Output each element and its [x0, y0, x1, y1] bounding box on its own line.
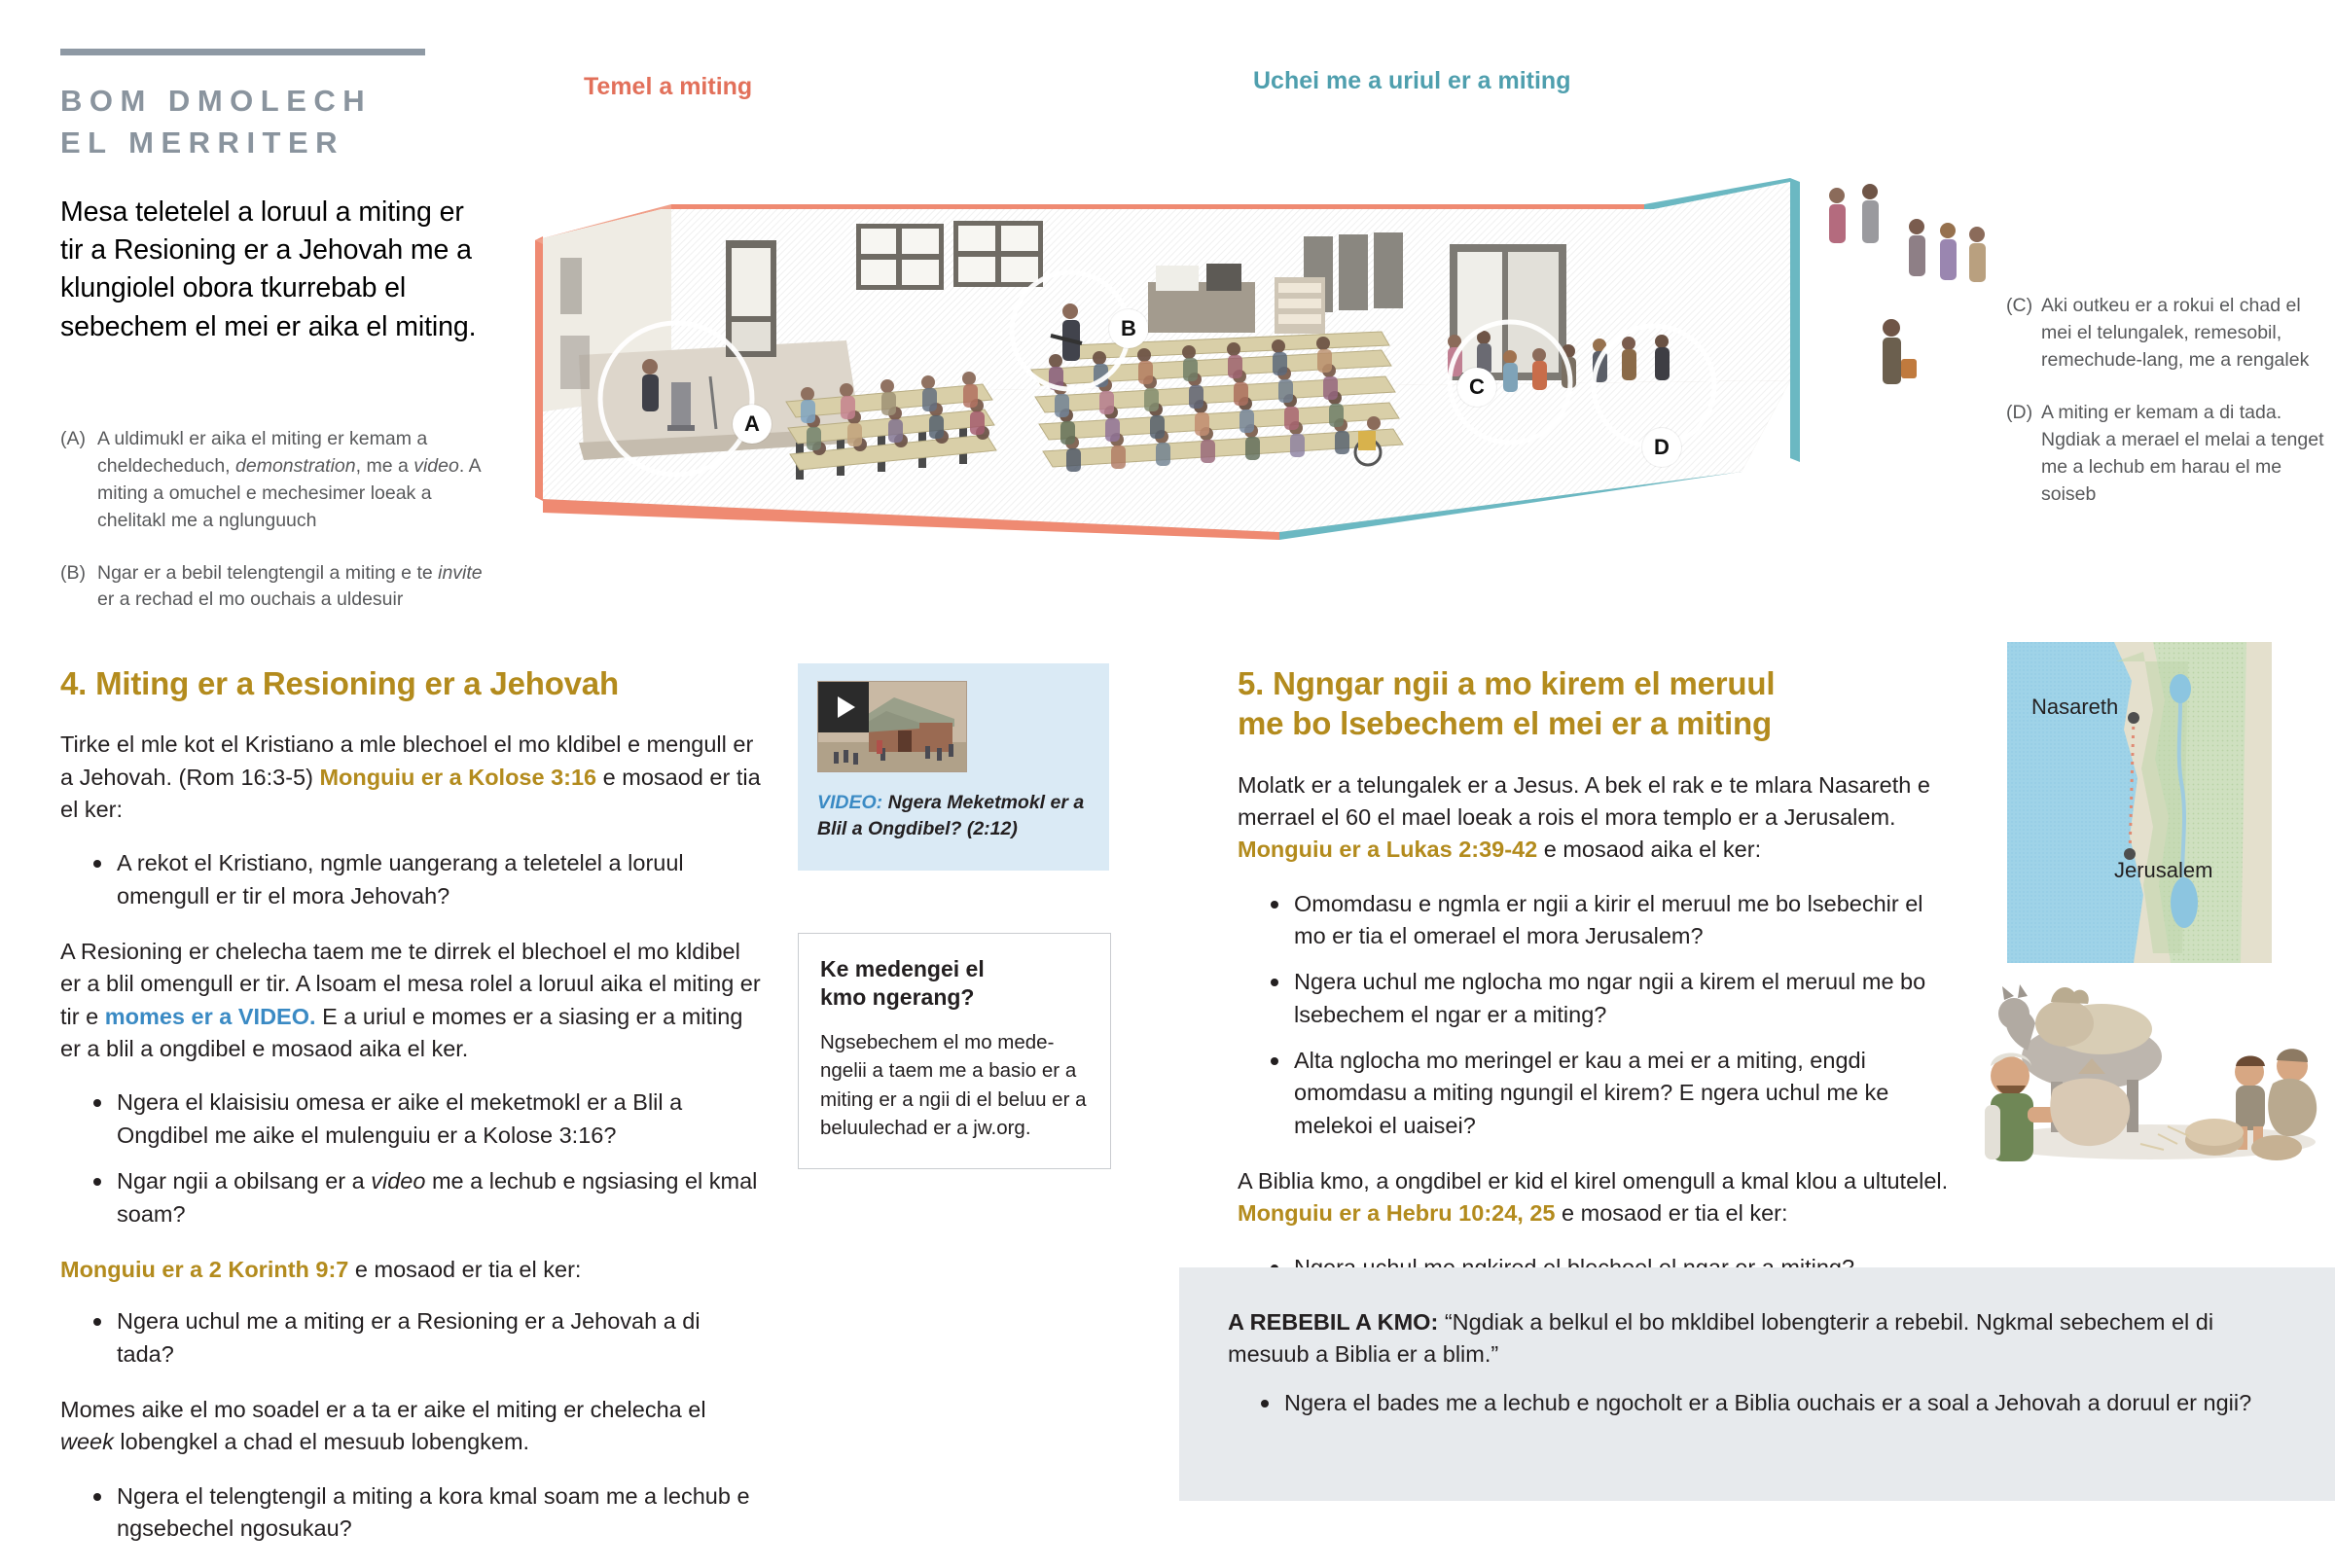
- sidebar-column: VIDEO: Ngera Meketmokl er a Blil a Ongdi…: [798, 663, 1109, 1169]
- scripture-ref-korinth[interactable]: Monguiu er a 2 Korinth 9:7: [60, 1257, 348, 1282]
- scripture-ref-lukas[interactable]: Monguiu er a Lukas 2:39-42: [1238, 837, 1537, 862]
- play-icon[interactable]: [818, 682, 869, 732]
- illustration-label-right: Uchei me a uriul er a miting: [1253, 67, 1570, 95]
- caption-a: (A) A uldimukl er aika el miting er kema…: [60, 426, 498, 535]
- caption-b: (B) Ngar er a bebil telengtengil a mitin…: [60, 560, 498, 615]
- map-label-nasareth: Nasareth: [2031, 695, 2118, 720]
- caption-c-text: Aki outkeu er a rokui el chad el mei el …: [2041, 292, 2327, 374]
- section-4-heading: 4. Miting er a Resioning er a Jehovah: [60, 663, 761, 703]
- section-5-paragraph-2: A Biblia kmo, a ongdibel er kid el kirel…: [1238, 1165, 1958, 1230]
- kicker-line-2: EL MERRITER: [60, 123, 488, 164]
- caption-b-tag: (B): [60, 560, 97, 615]
- marker-c: C: [1457, 368, 1496, 407]
- list-item: A rekot el Kristiano, ngmle uangerang a …: [93, 847, 761, 912]
- illustration-captions-right: (C) Aki outkeu er a rokui el chad el mei…: [2006, 292, 2327, 534]
- section-4-column: 4. Miting er a Resioning er a Jehovah Ti…: [60, 663, 761, 1568]
- section-5-paragraph-1: Molatk er a telungalek er a Jesus. A bek…: [1238, 769, 1958, 867]
- caption-b-text: Ngar er a bebil telengtengil a miting e …: [97, 560, 498, 615]
- scripture-ref-hebru[interactable]: Monguiu er a Hebru 10:24, 25: [1238, 1200, 1555, 1226]
- lead-paragraph: Mesa teletelel a loruul a miting er tir …: [60, 194, 488, 347]
- list-item: Ngar ngii a obilsang er a video me a lec…: [93, 1165, 761, 1230]
- video-label: VIDEO:: [817, 792, 882, 813]
- did-you-know-box: Ke medengei el kmo ngerang? Ngsebechem e…: [798, 933, 1111, 1169]
- kingdom-hall-illustration: Temel a miting Uchei me a uriul er a mit…: [525, 151, 2043, 579]
- caption-a-text: A uldimukl er aika el miting er kemam a …: [97, 426, 498, 535]
- list-item: Alta nglocha mo meringel er kau a mei er…: [1271, 1045, 1958, 1142]
- list-item: Ngera uchul me nglocha mo ngar ngii a ki…: [1271, 966, 1958, 1031]
- section-4-paragraph-4: Momes aike el mo soadel er a ta er aike …: [60, 1394, 761, 1459]
- caption-d-text: A miting er kemam a di tada. Ngdiak a me…: [2041, 399, 2327, 508]
- some-say-bullets: Ngera el bades me a lechub e ngocholt er…: [1228, 1387, 2277, 1419]
- list-item: Ngera el bades me a lechub e ngocholt er…: [1261, 1387, 2277, 1419]
- kicker-line-1: BOM DMOLECH: [60, 81, 488, 123]
- room-diagram: [525, 151, 2043, 579]
- scripture-ref-kolose[interactable]: Monguiu er a Kolose 3:16: [319, 765, 596, 790]
- video-caption: VIDEO: Ngera Meketmokl er a Blil a Ongdi…: [817, 790, 1090, 841]
- did-you-know-title-line-2: kmo ngerang?: [820, 983, 1089, 1012]
- illustration-label-left: Temel a miting: [584, 73, 752, 101]
- section-5-heading-line-1: 5. Ngngar ngii a mo kirem el meruul: [1238, 665, 1775, 701]
- caption-d: (D) A miting er kemam a di tada. Ngdiak …: [2006, 399, 2327, 508]
- some-say-label: A REBEBIL A KMO:: [1228, 1309, 1438, 1335]
- section-4-paragraph-2: A Resioning er chelecha taem me te dirre…: [60, 936, 761, 1065]
- section-5-column: 5. Ngngar ngii a mo kirem el meruul me b…: [1238, 663, 1958, 1307]
- illustration-captions-left: (A) A uldimukl er aika el miting er kema…: [60, 426, 498, 639]
- some-say-box: A REBEBIL A KMO: “Ngdiak a belkul el bo …: [1179, 1267, 2335, 1501]
- marker-b: B: [1109, 309, 1148, 348]
- page-root: BOM DMOLECH EL MERRITER Mesa teletelel a…: [0, 0, 2335, 1501]
- section-4-paragraph-1: Tirke el mle kot el Kristiano a mle blec…: [60, 729, 761, 826]
- kicker-title: BOM DMOLECH EL MERRITER: [60, 81, 488, 164]
- marker-a: A: [733, 405, 772, 444]
- header-rule: [60, 49, 425, 55]
- section-5-bullets-1: Omomdasu e ngmla er ngii a kirir el meru…: [1238, 888, 1958, 1143]
- caption-c: (C) Aki outkeu er a rokui el chad el mei…: [2006, 292, 2327, 374]
- video-link[interactable]: momes er a VIDEO.: [105, 1004, 316, 1029]
- section-4-bullets-1: A rekot el Kristiano, ngmle uangerang a …: [60, 847, 761, 912]
- video-box[interactable]: VIDEO: Ngera Meketmokl er a Blil a Ongdi…: [798, 663, 1109, 871]
- list-item: Ngera uchul me a miting er a Resioning e…: [93, 1305, 761, 1371]
- video-thumbnail[interactable]: [817, 681, 967, 772]
- caption-a-tag: (A): [60, 426, 97, 535]
- section-4-bullets-4: Ngera el telengtengil a miting a kora km…: [60, 1480, 761, 1546]
- section-4-paragraph-3: Monguiu er a 2 Korinth 9:7 e mosaod er t…: [60, 1254, 761, 1286]
- header-block: BOM DMOLECH EL MERRITER Mesa teletelel a…: [60, 49, 488, 346]
- section-4-bullets-3: Ngera uchul me a miting er a Resioning e…: [60, 1305, 761, 1371]
- some-say-paragraph: A REBEBIL A KMO: “Ngdiak a belkul el bo …: [1228, 1306, 2277, 1372]
- did-you-know-title: Ke medengei el kmo ngerang?: [820, 955, 1089, 1013]
- did-you-know-text: Ngsebechem el mo mede‐ngelii a taem me a…: [820, 1028, 1089, 1143]
- section-5-heading-line-2: me bo lsebechem el mei er a miting: [1238, 705, 1772, 741]
- section-5-heading: 5. Ngngar ngii a mo kirem el meruul me b…: [1238, 663, 1958, 744]
- did-you-know-title-line-1: Ke medengei el: [820, 955, 1089, 983]
- list-item: Ngera el klaisisiu omesa er aike el meke…: [93, 1087, 761, 1152]
- marker-d: D: [1642, 428, 1681, 467]
- travelers-illustration: [1946, 866, 2335, 1167]
- section-4-bullets-2: Ngera el klaisisiu omesa er aike el meke…: [60, 1087, 761, 1229]
- list-item: Ngera el telengtengil a miting a kora km…: [93, 1480, 761, 1546]
- list-item: Omomdasu e ngmla er ngii a kirir el meru…: [1271, 888, 1958, 953]
